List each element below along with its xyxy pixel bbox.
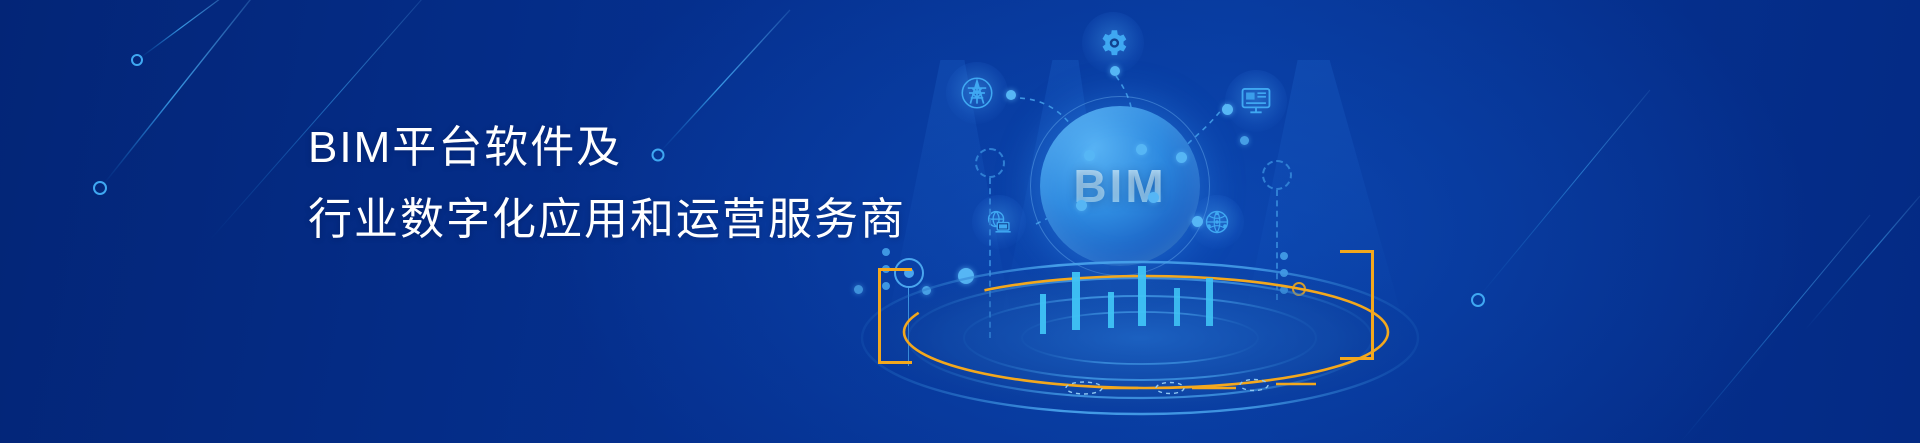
- connector-dot: [1176, 152, 1187, 163]
- connector-dot: [1222, 104, 1233, 115]
- hero-headline: BIM平台软件及 行业数字化应用和运营服务商: [308, 112, 906, 256]
- power-tower-icon: [960, 76, 994, 110]
- bim-core-sphere: BIM: [1040, 106, 1200, 266]
- dashed-circle: [975, 148, 1005, 178]
- bracket-left: [878, 268, 912, 364]
- bim-illustration: BIM: [840, 0, 1460, 443]
- hero-banner: BIM平台软件及 行业数字化应用和运营服务商 BIM: [0, 0, 1920, 443]
- headline-line-1: BIM平台软件及: [308, 112, 906, 184]
- connector-dot: [1240, 136, 1249, 145]
- monitor-icon: [1239, 84, 1273, 118]
- node-power-tower[interactable]: [946, 62, 1008, 124]
- connector-dot: [1084, 150, 1095, 161]
- gear-icon: [1096, 26, 1130, 60]
- connector-dot: [1006, 90, 1016, 100]
- connector-dot: [1136, 144, 1147, 155]
- network-globe-icon: [1203, 208, 1231, 236]
- dashed-circle: [1262, 160, 1292, 190]
- connector-dot: [1110, 66, 1120, 76]
- node-monitor[interactable]: [1225, 70, 1287, 132]
- connector-dot: [1192, 216, 1203, 227]
- node-gear[interactable]: [1082, 12, 1144, 74]
- connector-dot: [1148, 192, 1159, 203]
- connector-dot: [1076, 200, 1087, 211]
- headline-line-2: 行业数字化应用和运营服务商: [308, 184, 906, 256]
- bim-core-label: BIM: [1040, 106, 1200, 266]
- bracket-right: [1340, 250, 1374, 360]
